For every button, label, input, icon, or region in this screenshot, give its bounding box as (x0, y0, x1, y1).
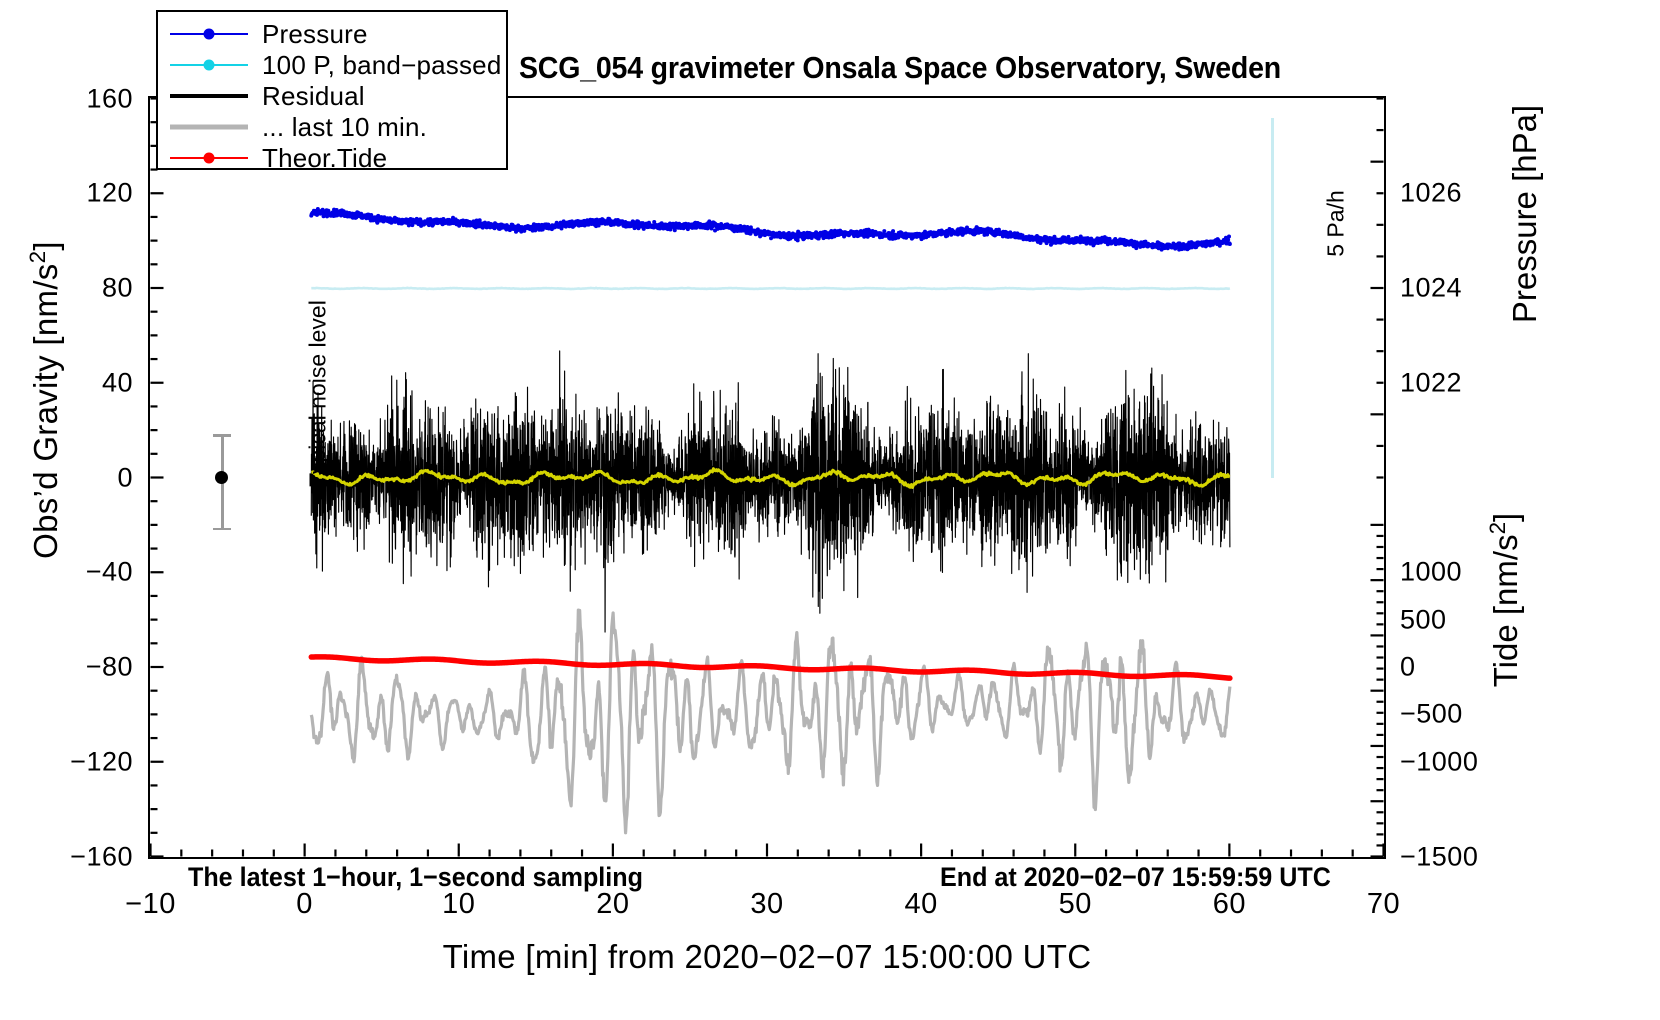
legend-item: ... last 10 min. (158, 112, 506, 142)
caption-end-time: End at 2020−02−07 15:59:59 UTC (940, 862, 1331, 893)
pressure-scale-label: 5 Pa/h (1323, 124, 1350, 324)
pressure-tick-label: 1022 (1400, 367, 1462, 398)
x-axis-title: Time [min] from 2020−02−07 15:00:00 UTC (148, 938, 1386, 976)
axis-ticks (148, 96, 1388, 861)
legend-swatch (166, 147, 252, 169)
legend-marker-dot (204, 60, 215, 71)
legend-swatch (166, 54, 252, 76)
y-tick-label: 120 (86, 178, 133, 209)
y-axis-title-pressure: Pressure [hPa] (1506, 34, 1544, 394)
legend-item: Theor.Tide (158, 143, 506, 173)
legend-label: Residual (262, 81, 365, 112)
y-tick-label: −160 (70, 841, 133, 872)
legend-item: Residual (158, 81, 506, 111)
legend-marker-dot (204, 153, 215, 164)
pressure-tick-label: 1026 (1400, 178, 1462, 209)
y-axis-left-labels: −160−120−80−4004080120160 (0, 0, 133, 1020)
legend-label: ... last 10 min. (262, 112, 427, 143)
tide-tick-label: −1500 (1400, 841, 1478, 872)
tide-tick-label: −500 (1400, 699, 1463, 730)
legend-swatch (166, 85, 252, 107)
pressure-scale-bar (1271, 118, 1274, 478)
y-tick-label: 0 (117, 462, 133, 493)
tide-tick-label: 1000 (1400, 557, 1462, 588)
y-tick-label: 80 (102, 273, 133, 304)
y-tick-label: −40 (86, 557, 133, 588)
x-tick-label: 70 (1367, 888, 1400, 921)
page-title: SCG_054 gravimeter Onsala Space Observat… (440, 50, 1360, 86)
legend-label: 100 P, band−passed (262, 50, 502, 81)
tide-tick-label: 0 (1400, 652, 1416, 683)
y-tick-label: 160 (86, 83, 133, 114)
y-tick-label: −120 (70, 746, 133, 777)
noise-level-dot (215, 471, 228, 484)
y-axis-title-left: Obs’d Gravity [nm/s2] (25, 120, 65, 680)
y-tick-label: −80 (86, 652, 133, 683)
y-tick-label: 40 (102, 367, 133, 398)
legend-swatch (166, 23, 252, 45)
x-tick-label: −10 (125, 888, 176, 921)
legend-label: Theor.Tide (262, 143, 387, 174)
legend-item: Pressure (158, 19, 506, 49)
legend-label: Pressure (262, 19, 368, 50)
y-axis-title-tide: Tide [nm/s2] (1485, 440, 1525, 760)
pressure-tick-label: 1024 (1400, 273, 1462, 304)
legend-marker-dot (204, 29, 215, 40)
tide-tick-label: 500 (1400, 604, 1447, 635)
legend: Pressure100 P, band−passedResidual... la… (156, 10, 508, 170)
chart-page: −160−120−80−4004080120160 10221024102610… (0, 0, 1660, 1020)
noise-level-label: Typical noise level (305, 274, 332, 514)
x-tick-label: 40 (904, 888, 937, 921)
x-tick-label: 30 (750, 888, 783, 921)
caption-sampling: The latest 1−hour, 1−second sampling (188, 862, 643, 893)
tide-tick-label: −1000 (1400, 746, 1478, 777)
legend-item: 100 P, band−passed (158, 50, 506, 80)
legend-swatch (166, 116, 252, 138)
